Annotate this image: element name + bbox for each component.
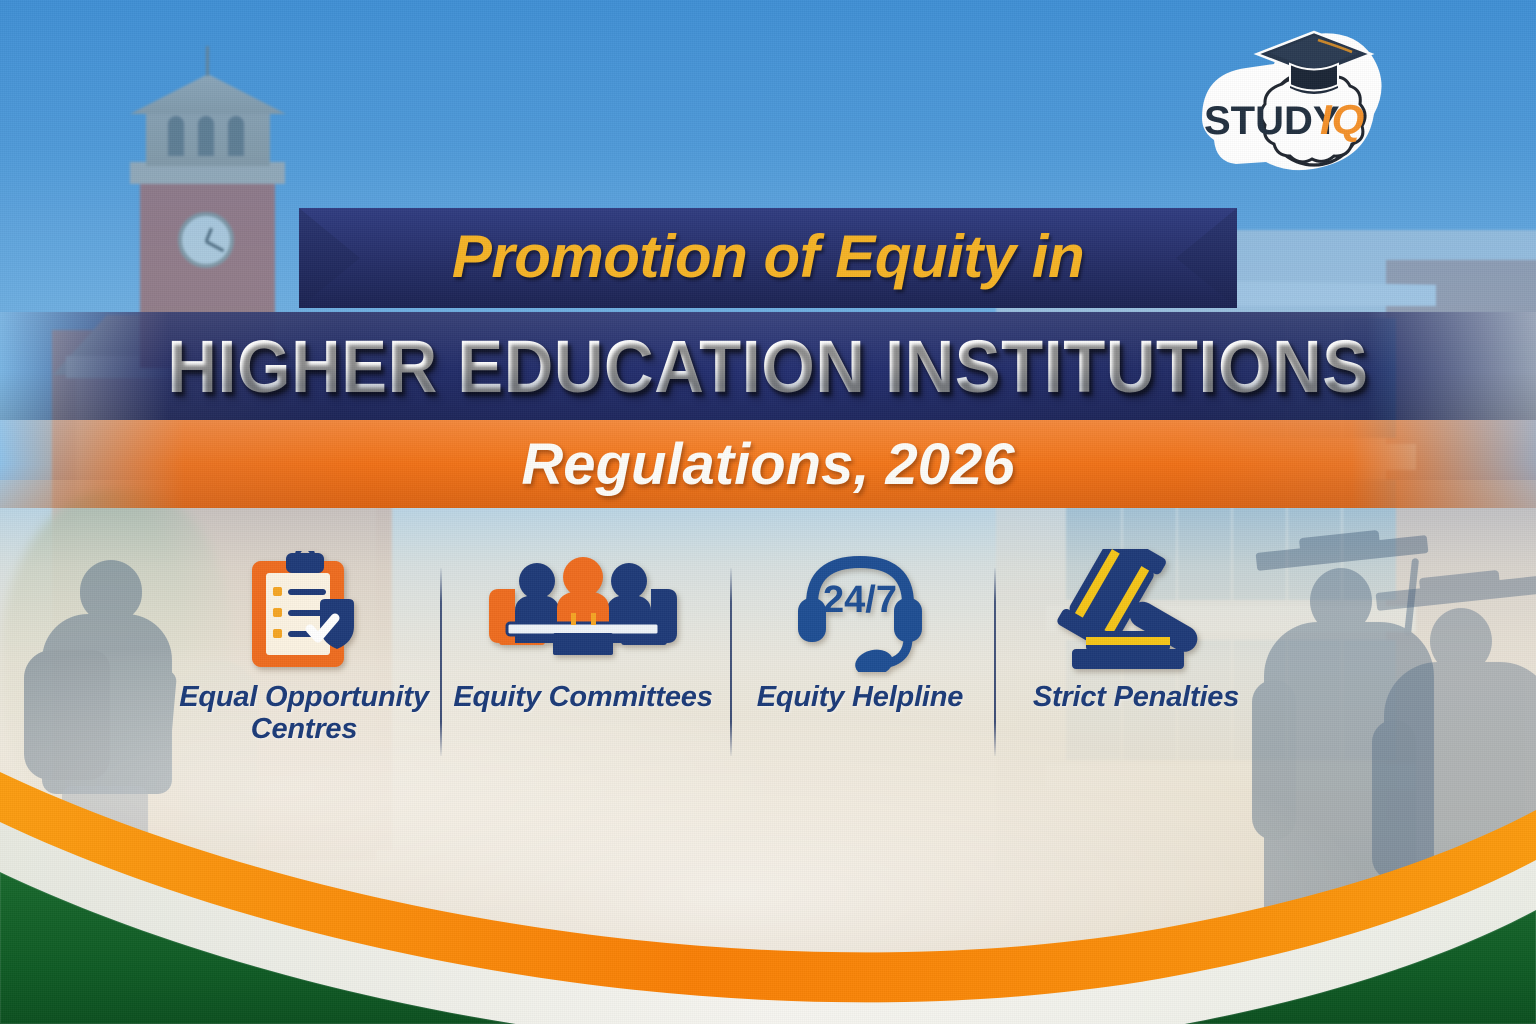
feature-item-equity-helpline[interactable]: 24/7 Equity Helpline (728, 548, 992, 713)
feature-label-equity-helpline: Equity Helpline (757, 681, 963, 713)
feature-label-line-2: Centres (179, 713, 429, 745)
feature-item-equal-opportunity-centres[interactable]: Equal Opportunity Centres (170, 548, 438, 746)
feature-item-equity-committees[interactable]: Equity Committees (438, 548, 728, 713)
gavel-sound-block-icon (1050, 548, 1222, 673)
main-heading-band: HIGHER EDUCATION INSTITUTIONS (0, 312, 1536, 420)
feature-divider-1 (440, 568, 442, 756)
studyiq-logo[interactable]: STUDY IQ (1186, 22, 1386, 192)
headset-24-7-support-icon: 24/7 (790, 548, 930, 673)
sub-heading-band: Regulations, 2026 (0, 420, 1536, 508)
logo-word-iq: IQ (1320, 96, 1364, 144)
feature-label-strict-penalties: Strict Penalties (1033, 681, 1239, 713)
feature-label-line-1: Strict Penalties (1033, 681, 1239, 713)
feature-label-line-1: Equity Helpline (757, 681, 963, 713)
feature-item-strict-penalties[interactable]: Strict Penalties (992, 548, 1280, 713)
main-heading-text: HIGHER EDUCATION INSTITUTIONS (167, 324, 1368, 409)
ribbon-title-text: Promotion of Equity in (299, 208, 1237, 308)
feature-divider-2 (730, 568, 732, 756)
three-people-meeting-table-icon (485, 548, 681, 673)
feature-divider-3 (994, 568, 996, 756)
clipboard-checklist-shield-check-icon (242, 548, 366, 673)
feature-row: Equal Opportunity Centres (170, 548, 1280, 763)
title-block: Promotion of Equity in HIGHER EDUCATION … (0, 208, 1536, 508)
feature-label-equal-opportunity-centres: Equal Opportunity Centres (179, 681, 429, 746)
sub-heading-text: Regulations, 2026 (521, 431, 1014, 498)
feature-label-line-1: Equity Committees (453, 681, 712, 713)
feature-label-line-1: Equal Opportunity (179, 681, 429, 713)
poster-canvas: STUDY IQ Promotion of Equity in HIGHER E… (0, 0, 1536, 1024)
feature-label-equity-committees: Equity Committees (453, 681, 712, 713)
india-tricolour-wave (0, 764, 1536, 1024)
headset-availability-text: 24/7 (823, 579, 897, 621)
ribbon-banner: Promotion of Equity in (299, 208, 1237, 308)
